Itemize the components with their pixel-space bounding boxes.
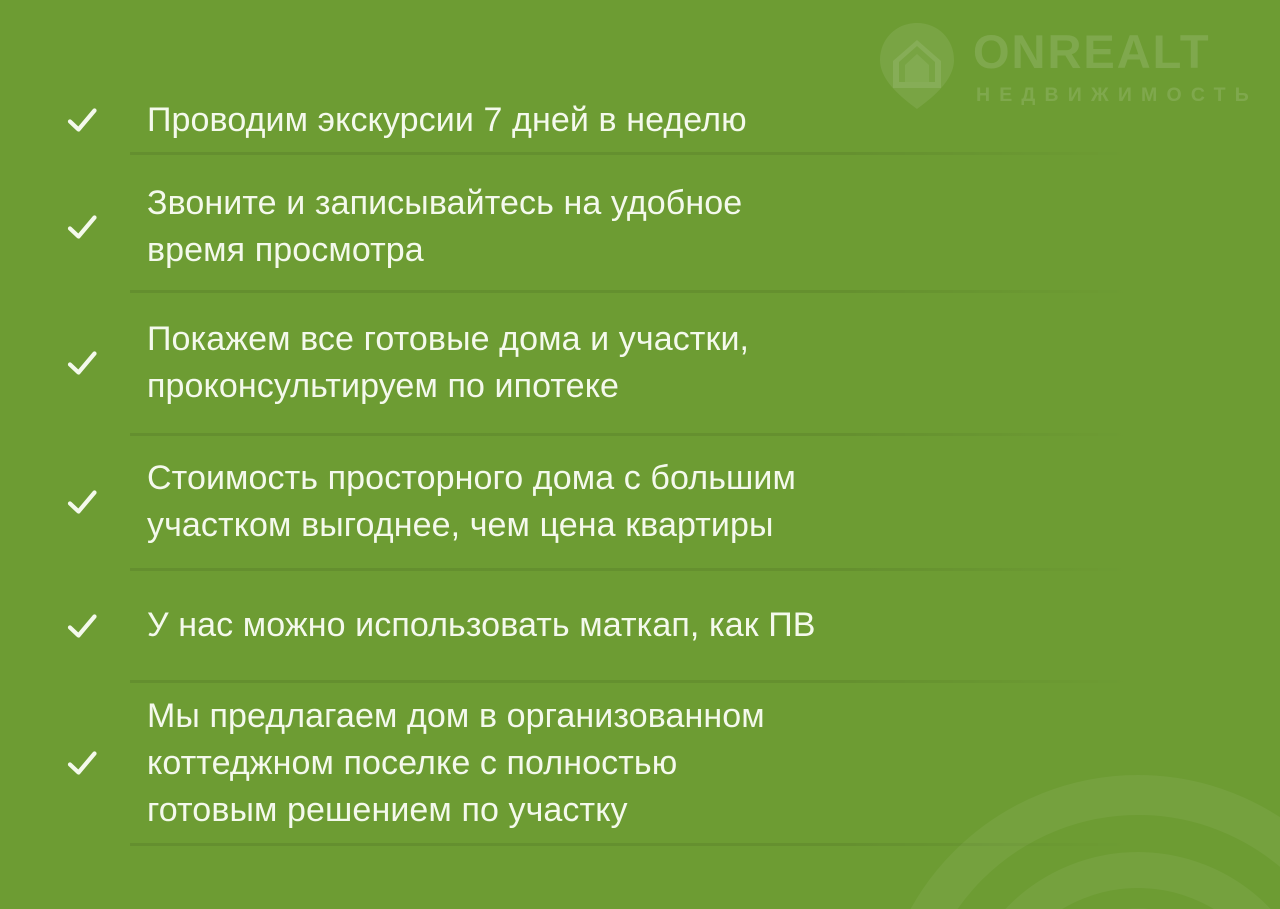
- benefit-item-label: Покажем все готовые дома и участки, прок…: [147, 316, 749, 410]
- check-icon: [62, 482, 102, 522]
- benefit-item-label: Стоимость просторного дома с большим уча…: [147, 455, 796, 549]
- benefit-item: Мы предлагаем дом в организованном котте…: [0, 683, 765, 843]
- concentric-rings-icon: [878, 515, 1280, 909]
- benefit-item-label: Проводим экскурсии 7 дней в неделю: [147, 97, 747, 144]
- benefit-divider: [130, 568, 1135, 571]
- check-icon: [62, 743, 102, 783]
- promo-poster: ONREALT НЕДВИЖИМОСТЬ Проводим экскурсии …: [0, 0, 1280, 909]
- check-icon: [62, 100, 102, 140]
- benefit-item: Покажем все готовые дома и участки, прок…: [0, 293, 749, 433]
- benefit-item: Проводим экскурсии 7 дней в неделю: [0, 80, 747, 160]
- brand-wordmark: ONREALT НЕДВИЖИМОСТЬ: [973, 24, 1258, 106]
- check-icon: [62, 606, 102, 646]
- brand-watermark: ONREALT НЕДВИЖИМОСТЬ: [875, 18, 1258, 112]
- benefit-item: Стоимость просторного дома с большим уча…: [0, 436, 796, 568]
- map-pin-house-icon: [875, 20, 959, 112]
- benefit-item: У нас можно использовать маткап, как ПВ: [0, 571, 816, 680]
- benefit-item: Звоните и записывайтесь на удобное время…: [0, 163, 742, 290]
- benefit-divider: [130, 290, 1135, 293]
- brand-title: ONREALT: [973, 28, 1258, 75]
- benefit-item-label: Мы предлагаем дом в организованном котте…: [147, 693, 765, 834]
- check-icon: [62, 207, 102, 247]
- brand-subtitle: НЕДВИЖИМОСТЬ: [976, 86, 1258, 106]
- benefit-item-label: У нас можно использовать маткап, как ПВ: [147, 602, 816, 649]
- benefit-divider: [130, 680, 1135, 683]
- benefit-divider: [130, 433, 1135, 436]
- benefit-divider: [130, 843, 1135, 846]
- benefit-divider: [130, 152, 1135, 155]
- benefit-item-label: Звоните и записывайтесь на удобное время…: [147, 180, 742, 274]
- check-icon: [62, 343, 102, 383]
